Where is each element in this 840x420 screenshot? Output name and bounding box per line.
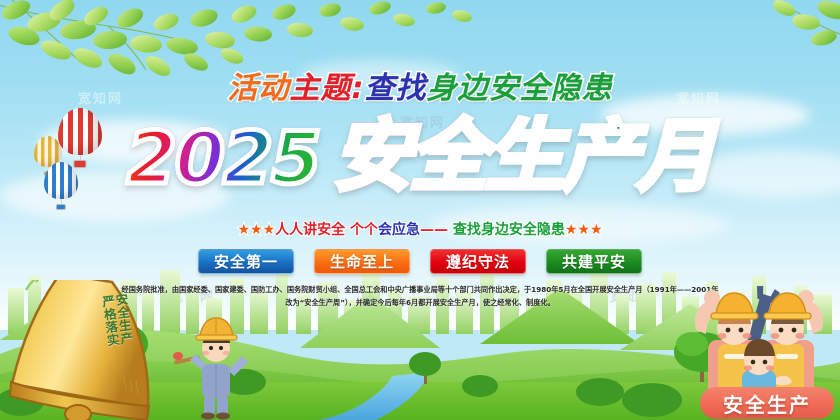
slogan-seg-3: 个个 xyxy=(345,222,378,238)
slogan-button-row: 安全第一 生命至上 遵纪守法 共建平安 xyxy=(0,249,840,274)
slogan-seg-4: 会应急 xyxy=(378,222,420,238)
description-paragraph: 经国务院批准，由国家经委、国家建委、国防工办、国务院财贸小组、全国总工会和中央广… xyxy=(120,284,720,309)
title-headline: 安全生产月 xyxy=(333,112,713,202)
title-year: 2025 xyxy=(127,116,319,200)
event-theme-line: 活动主题:查找身边安全隐患 xyxy=(0,74,840,104)
bell-inscription: 安全生产 严格落实 xyxy=(66,292,136,369)
theme-seg-1: 活动 xyxy=(228,71,290,106)
slogan-button-safety-first[interactable]: 安全第一 xyxy=(198,249,294,274)
slogan-button-life-supreme[interactable]: 生命至上 xyxy=(314,249,410,274)
slogan-button-obey-law[interactable]: 遵纪守法 xyxy=(430,249,526,274)
slogan-seg-6: 查找身边安全隐患 xyxy=(453,222,565,238)
poster-canvas: 宽知网 宽知网 宽知网 宽知网 宽知网 宽知网 xyxy=(0,0,840,420)
slogan-seg-7: ★★★ xyxy=(565,222,603,238)
slogan-seg-2: 人人讲安全 xyxy=(275,222,345,238)
slogan-button-build-safety[interactable]: 共建平安 xyxy=(546,249,642,274)
worker-character-illustration xyxy=(172,312,260,420)
safety-production-badge[interactable]: 安全生产 xyxy=(700,387,834,419)
main-title: 2025安全生产月 xyxy=(0,118,840,196)
theme-seg-4: 身边安全隐患 xyxy=(427,71,613,106)
slogan-seg-5: —— xyxy=(420,222,453,238)
theme-seg-3: 查找 xyxy=(365,71,427,106)
slogan-line: ★★★人人讲安全 个个会应急—— 查找身边安全隐患★★★ xyxy=(0,223,840,237)
theme-seg-2: 主题: xyxy=(290,71,365,106)
slogan-seg-1: ★★★ xyxy=(237,222,275,238)
